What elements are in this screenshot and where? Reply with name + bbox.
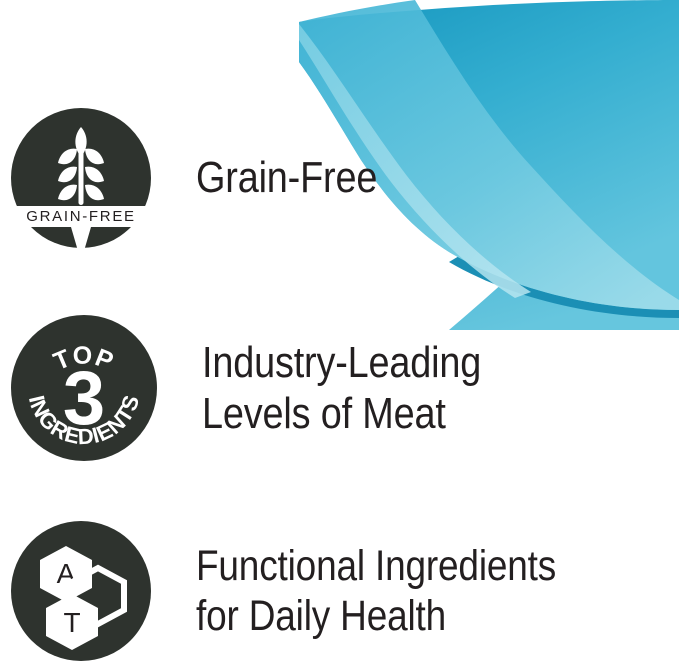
promo-feature-panel: GRAIN-FREE Grain-Free TOP 3 INGREDIENTS … — [0, 0, 679, 663]
feature-row-functional-ingredients: A T Functional Ingredients for Daily Hea… — [8, 518, 668, 663]
grain-free-badge: GRAIN-FREE — [8, 105, 154, 251]
feature-row-grain-free: GRAIN-FREE Grain-Free — [8, 104, 668, 252]
top-3-ingredients-badge: TOP 3 INGREDIENTS — [8, 312, 160, 464]
badge-band-label: GRAIN-FREE — [26, 208, 136, 225]
hexagon-t-label: T — [63, 607, 80, 638]
feature-row-top-3-ingredients: TOP 3 INGREDIENTS Industry-Leading Level… — [8, 312, 668, 464]
feature-label-industry-leading: Industry-Leading Levels of Meat — [202, 337, 603, 440]
feature-label-functional-ingredients: Functional Ingredients for Daily Health — [196, 541, 602, 642]
functional-ingredients-badge: A T — [8, 518, 154, 663]
feature-label-grain-free: Grain-Free — [196, 152, 602, 203]
